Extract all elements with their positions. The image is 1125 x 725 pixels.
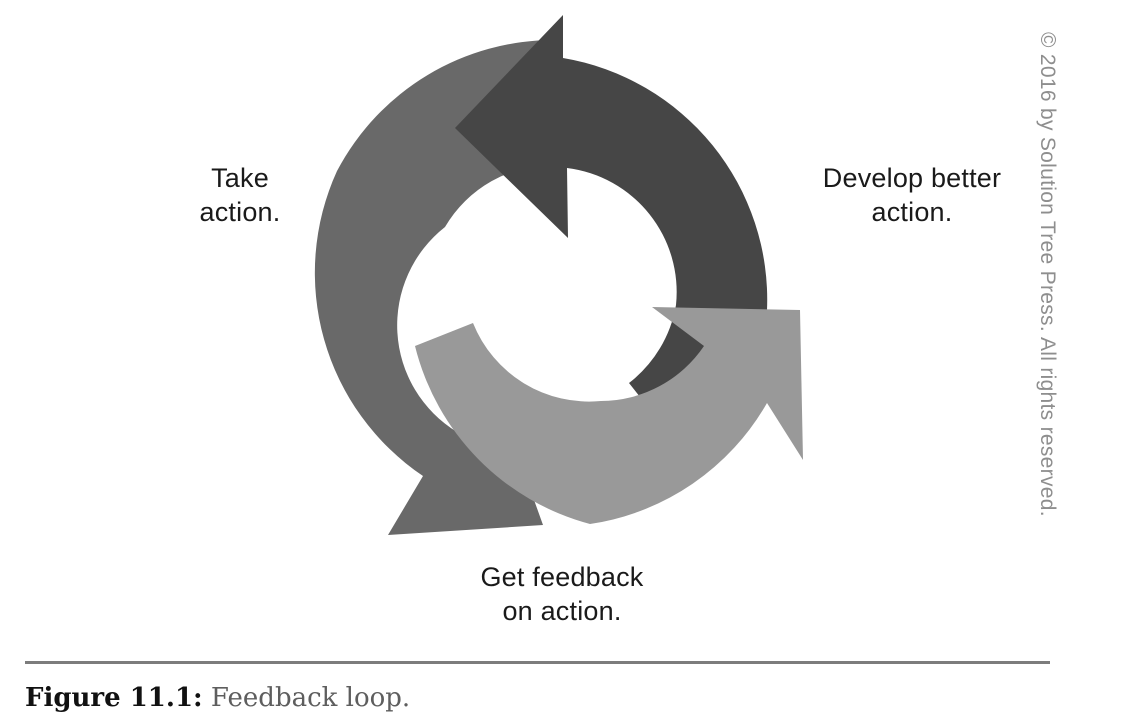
cycle-label-get-feedback-on-action: Get feedback on action. xyxy=(435,560,689,628)
cycle-label-develop-better-action: Develop better action. xyxy=(762,161,1062,229)
figure-caption: Figure 11.1: Feedback loop. xyxy=(25,681,410,715)
figure-canvas: Take action. Develop better action. Get … xyxy=(0,0,1125,725)
figure-caption-title: Feedback loop. xyxy=(211,683,410,713)
copyright-notice: © 2016 by Solution Tree Press. All right… xyxy=(1036,32,1058,682)
figure-caption-number: Figure 11.1: xyxy=(25,683,203,713)
feedback-loop-svg xyxy=(280,5,830,570)
caption-divider xyxy=(25,661,1050,664)
cycle-label-take-action: Take action. xyxy=(130,161,350,229)
feedback-loop-diagram xyxy=(280,5,830,570)
